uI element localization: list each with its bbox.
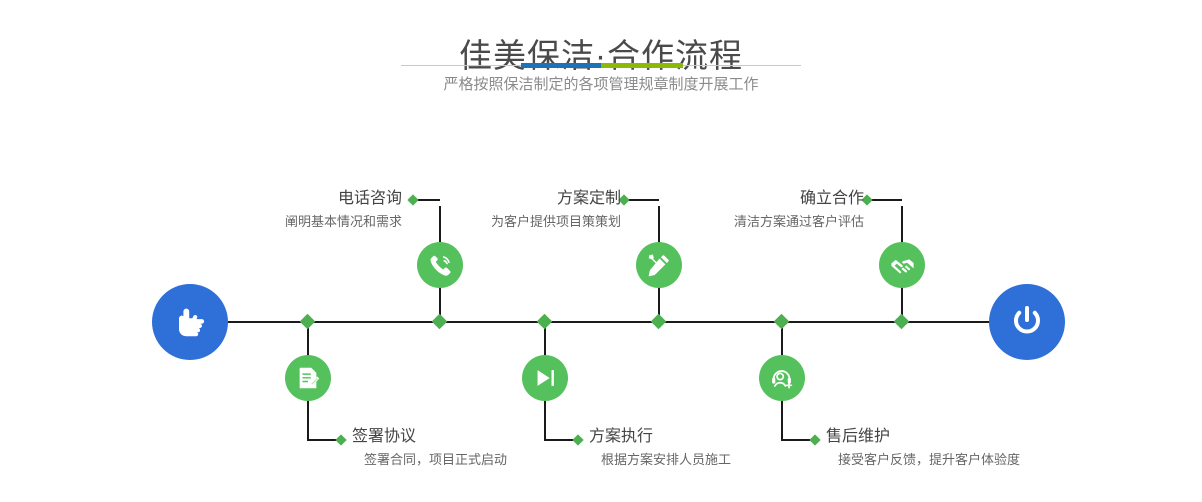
pencil-ruler-icon xyxy=(646,252,672,278)
step-6-desc: 接受客户反馈，提升客户体验度 xyxy=(838,450,1020,469)
step-3-icon-node[interactable] xyxy=(636,242,682,288)
step-4-label: 方案执行 根据方案安排人员施工 xyxy=(589,427,731,469)
step-6-title: 售后维护 xyxy=(826,427,1020,447)
step-1-label-diamond xyxy=(407,194,418,205)
step-1-label: 电话咨询 阐明基本情况和需求 xyxy=(285,189,402,231)
step-2-label: 签署协议 签署合同，项目正式启动 xyxy=(352,427,507,469)
step-2-title: 签署协议 xyxy=(352,427,507,447)
step-2-spine-diamond xyxy=(300,314,316,330)
step-3-desc: 为客户提供项目策策划 xyxy=(491,212,621,231)
step-1-title: 电话咨询 xyxy=(285,189,402,209)
step-3-title: 方案定制 xyxy=(491,189,621,209)
step-5-spine-diamond xyxy=(894,314,910,330)
step-2-desc: 签署合同，项目正式启动 xyxy=(364,450,507,469)
step-5-title: 确立合作 xyxy=(734,189,864,209)
step-3-branch-hline xyxy=(628,199,659,201)
timeline-end-node xyxy=(989,284,1065,360)
phone-call-icon xyxy=(427,252,454,279)
power-icon xyxy=(1006,301,1048,343)
step-6-label-diamond xyxy=(809,434,820,445)
step-1-icon-node[interactable] xyxy=(417,242,463,288)
process-flow-infographic: 佳美保洁·合作流程 严格按照保洁制定的各项管理规章制度开展工作 xyxy=(0,0,1202,502)
step-2-label-diamond xyxy=(335,434,346,445)
step-6-label: 售后维护 接受客户反馈，提升客户体验度 xyxy=(826,427,1020,469)
step-5-icon-node[interactable] xyxy=(879,242,925,288)
timeline-main-line xyxy=(210,321,1010,323)
step-6-spine-diamond xyxy=(774,314,790,330)
document-pen-icon xyxy=(295,365,321,391)
step-1-spine-diamond xyxy=(432,314,448,330)
divider-segment-green xyxy=(601,63,683,68)
timeline-start-node xyxy=(152,284,228,360)
step-5-label: 确立合作 清洁方案通过客户评估 xyxy=(734,189,864,231)
step-6-icon-node[interactable] xyxy=(759,355,805,401)
step-4-title: 方案执行 xyxy=(589,427,731,447)
page-subtitle: 严格按照保洁制定的各项管理规章制度开展工作 xyxy=(0,74,1202,96)
step-5-branch-hline xyxy=(871,199,902,201)
step-1-desc: 阐明基本情况和需求 xyxy=(285,212,402,231)
step-2-icon-node[interactable] xyxy=(285,355,331,401)
step-1-branch-hline xyxy=(417,199,440,201)
step-4-icon-node[interactable] xyxy=(522,355,568,401)
step-4-spine-diamond xyxy=(537,314,553,330)
page-title: 佳美保洁·合作流程 xyxy=(0,34,1202,78)
step-4-label-diamond xyxy=(572,434,583,445)
step-3-spine-diamond xyxy=(651,314,667,330)
handshake-icon xyxy=(889,252,916,279)
step-5-desc: 清洁方案通过客户评估 xyxy=(734,212,864,231)
divider-segment-blue xyxy=(521,63,601,68)
headset-support-icon xyxy=(769,365,795,391)
header: 佳美保洁·合作流程 xyxy=(0,34,1202,78)
play-execute-icon xyxy=(532,365,558,391)
step-4-desc: 根据方案安排人员施工 xyxy=(601,450,731,469)
step-3-label: 方案定制 为客户提供项目策策划 xyxy=(491,189,621,231)
hand-pointing-icon xyxy=(170,302,210,342)
title-divider xyxy=(401,63,801,69)
